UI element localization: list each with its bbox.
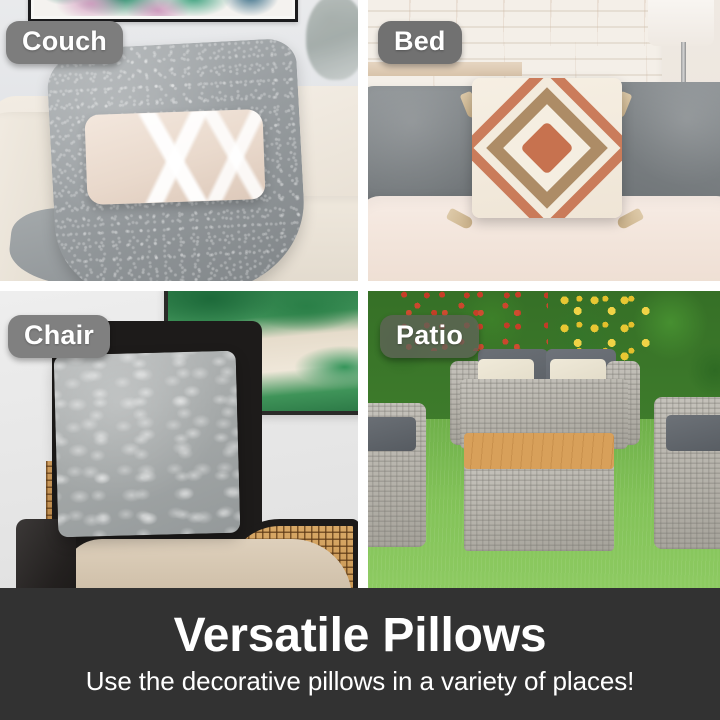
lamp-shade (648, 0, 714, 46)
headline: Versatile Pillows (174, 611, 547, 661)
framed-art (28, 0, 298, 22)
photo-grid: Couch (0, 0, 720, 588)
product-infographic: Couch (0, 0, 720, 720)
footer-banner: Versatile Pillows Use the decorative pil… (0, 588, 720, 720)
decorative-pillow-chair (54, 351, 241, 538)
panel-couch[interactable]: Couch (0, 0, 358, 281)
patio-chair-left-cushion (368, 417, 416, 451)
panel-chair[interactable]: Chair (0, 291, 358, 588)
chair-seat-cushion (62, 539, 352, 588)
headboard-ledge (368, 62, 522, 76)
panel-label-couch: Couch (6, 21, 123, 64)
panel-label-patio: Patio (380, 315, 479, 358)
decorative-pillow-bed (472, 78, 622, 218)
abstract-painting (34, 0, 292, 16)
plant-decor (306, 0, 358, 80)
patio-chair-right-cushion (666, 415, 720, 451)
panel-bed[interactable]: Bed (368, 0, 720, 281)
coffee-table-base (464, 463, 614, 551)
coffee-table-wood-top (464, 433, 614, 469)
decorative-pillow-couch (84, 109, 265, 205)
panel-label-bed: Bed (378, 21, 462, 64)
subheadline: Use the decorative pillows in a variety … (86, 667, 635, 696)
panel-patio[interactable]: Patio (368, 291, 720, 588)
panel-label-chair: Chair (8, 315, 110, 358)
